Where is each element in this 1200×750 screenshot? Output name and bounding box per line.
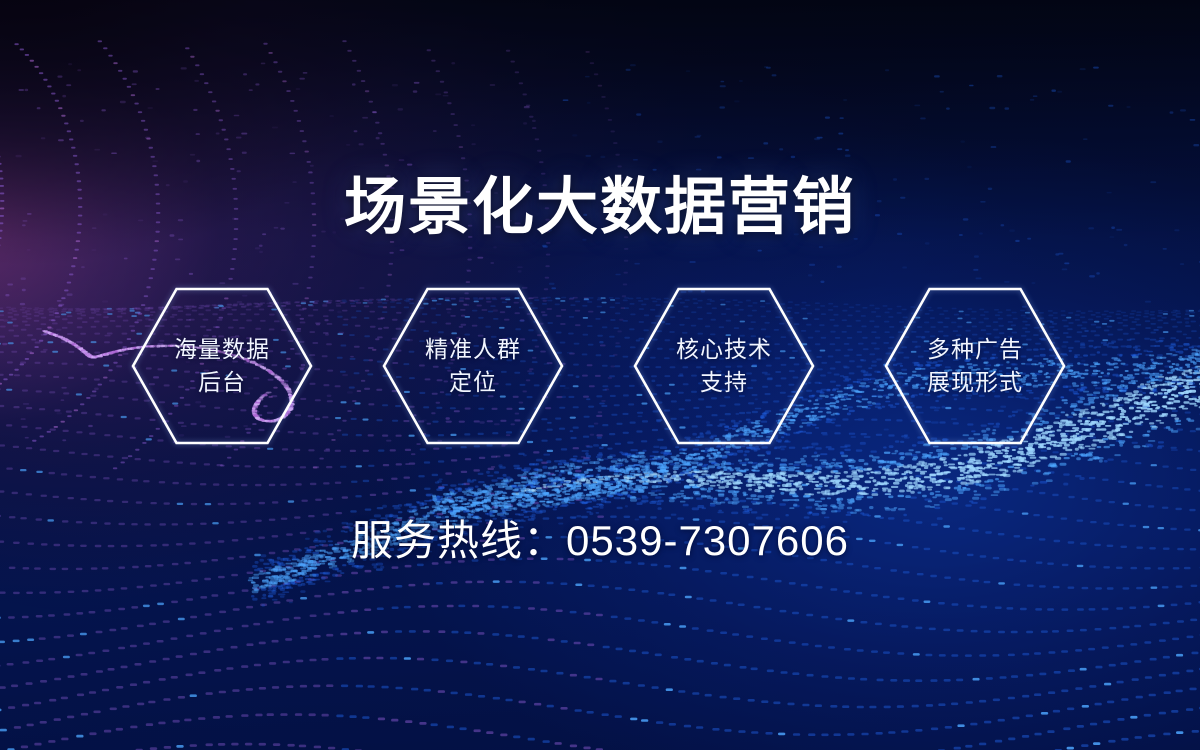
banner-content: 场景化大数据营销 海量数据 后台 精准人群 定位 (0, 0, 1200, 750)
service-hotline: 服务热线：0539-7307606 (0, 514, 1200, 568)
marketing-banner: 场景化大数据营销 海量数据 后台 精准人群 定位 (0, 0, 1200, 750)
feature-hexagon-4-line1: 多种广告 (927, 333, 1023, 366)
feature-hexagon-2-label: 精准人群 定位 (382, 287, 564, 445)
feature-hexagon-4-label: 多种广告 展现形式 (884, 287, 1066, 445)
feature-hexagon-4-line2: 展现形式 (927, 366, 1023, 399)
feature-hexagon-3-line1: 核心技术 (676, 333, 772, 366)
feature-hexagon-1[interactable]: 海量数据 后台 (131, 287, 313, 445)
feature-hexagon-2-line1: 精准人群 (425, 333, 521, 366)
feature-hexagon-2-line2: 定位 (449, 366, 497, 399)
feature-hexagon-row: 海量数据 后台 精准人群 定位 核心技术 支持 (0, 287, 1200, 447)
page-title: 场景化大数据营销 (0, 171, 1200, 245)
feature-hexagon-1-label: 海量数据 后台 (131, 287, 313, 445)
feature-hexagon-2[interactable]: 精准人群 定位 (382, 287, 564, 445)
feature-hexagon-1-line2: 后台 (198, 366, 246, 399)
feature-hexagon-3-line2: 支持 (700, 366, 748, 399)
feature-hexagon-4[interactable]: 多种广告 展现形式 (884, 287, 1066, 445)
feature-hexagon-3-label: 核心技术 支持 (633, 287, 815, 445)
feature-hexagon-1-line1: 海量数据 (174, 333, 270, 366)
feature-hexagon-3[interactable]: 核心技术 支持 (633, 287, 815, 445)
